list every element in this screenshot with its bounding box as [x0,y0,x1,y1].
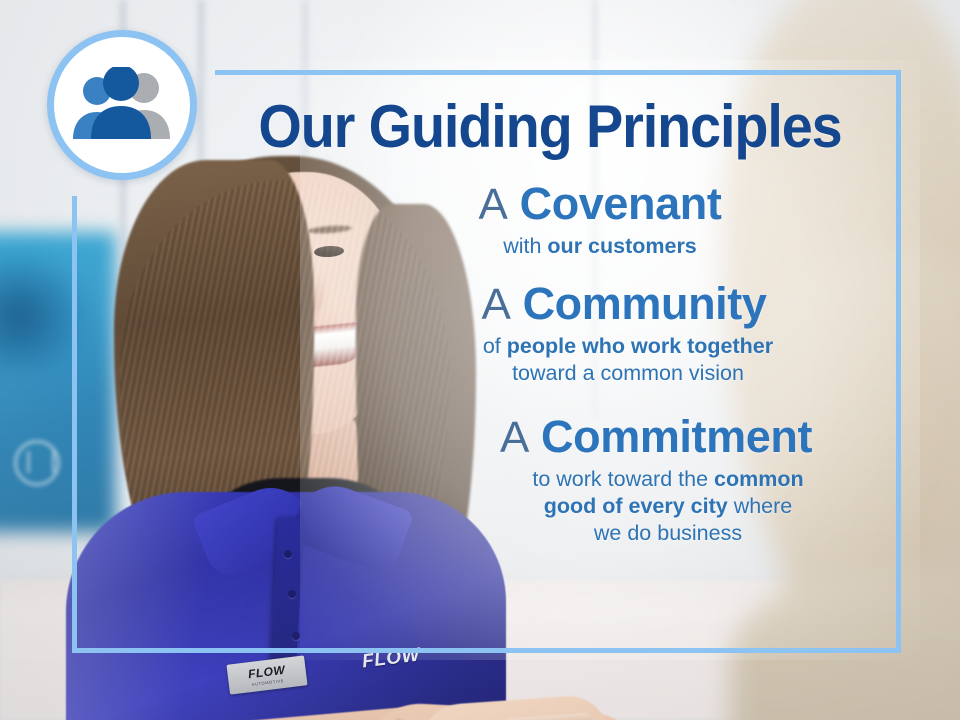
principle-description: to work toward the commongood of every c… [300,466,900,547]
principle-title: A Covenant [300,176,900,233]
principle-commitment: A Commitment to work toward the commongo… [300,409,900,547]
guiding-principles-banner: FLOW AUTOMOTIVE FLOW [0,0,960,720]
principle-keyword: Commitment [541,411,812,462]
principle-covenant: A Covenant with our customers [300,176,900,260]
principles-list: A Covenant with our customers A Communit… [300,176,900,553]
principle-title: A Commitment [300,409,900,466]
principle-article: A [500,413,529,462]
principle-description: with our customers [300,233,900,260]
people-group-icon-badge [47,30,197,180]
principle-community: A Community of people who work togethert… [300,276,900,387]
principle-article: A [479,180,508,229]
people-group-icon [70,67,174,143]
principle-keyword: Covenant [520,178,722,229]
principle-keyword: Community [523,278,767,329]
principle-description: of people who work togethertoward a comm… [300,333,900,387]
principle-article: A [482,280,511,329]
page-title: Our Guiding Principles [234,96,866,158]
principle-title: A Community [300,276,900,333]
